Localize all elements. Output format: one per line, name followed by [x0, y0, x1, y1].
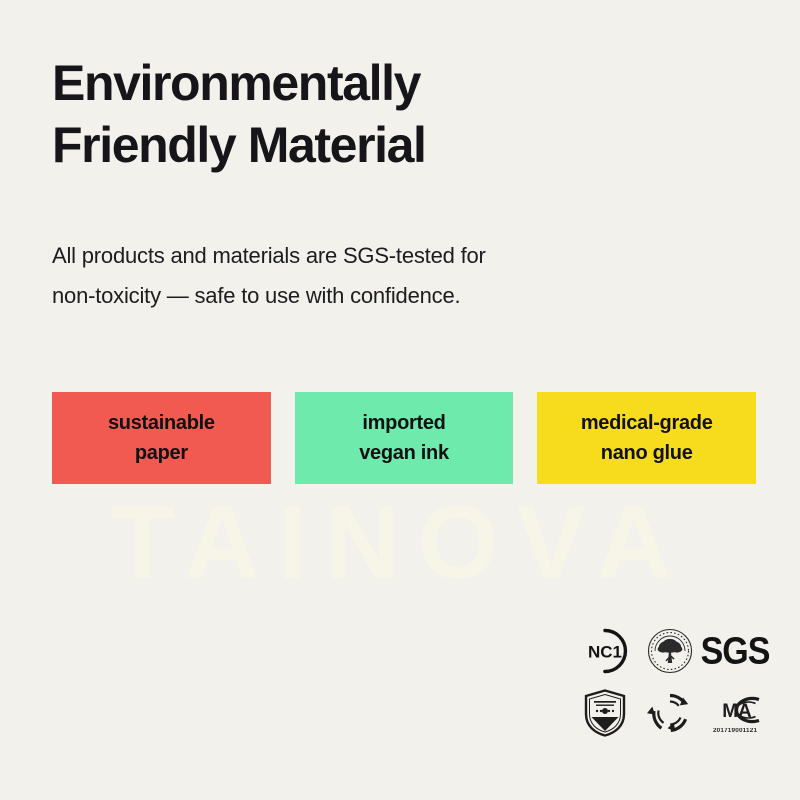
nc1-badge-icon: NC1	[575, 622, 634, 680]
page-title: Environmentally Friendly Material	[52, 52, 752, 176]
chip-medical-grade-nano-glue: medical-grade nano glue	[537, 392, 756, 484]
chip-label-line-1: sustainable	[108, 408, 215, 438]
sgs-logo-text: SGS	[701, 629, 770, 673]
page-title-line-1: Environmentally	[52, 52, 752, 114]
material-chip-group: sustainable paper imported vegan ink med…	[52, 392, 756, 484]
svg-text:MA: MA	[722, 701, 752, 722]
chip-label-line-1: medical-grade	[581, 408, 713, 438]
page-subtitle: All products and materials are SGS-teste…	[52, 236, 692, 316]
poster-canvas: TAINOVA Environmentally Friendly Materia…	[0, 0, 800, 800]
tree-seal-icon	[640, 622, 699, 680]
chip-label-line-2: nano glue	[601, 438, 693, 468]
certification-row-2: MA 201719001121	[575, 680, 771, 742]
chip-label-line-2: vegan ink	[359, 438, 449, 468]
chip-label-line-1: imported	[362, 408, 445, 438]
svg-text:NC1: NC1	[587, 643, 621, 662]
certification-badge-group: NC1	[575, 618, 771, 742]
chip-label-line-2: paper	[135, 438, 188, 468]
page-title-line-2: Friendly Material	[52, 114, 752, 176]
sgs-logo: SGS	[705, 622, 765, 680]
page-subtitle-line-1: All products and materials are SGS-teste…	[52, 236, 692, 276]
page-subtitle-line-2: non-toxicity — safe to use with confiden…	[52, 276, 692, 316]
chip-sustainable-paper: sustainable paper	[52, 392, 271, 484]
brand-watermark: TAINOVA	[0, 488, 800, 598]
recycling-loop-icon	[640, 684, 699, 742]
certification-row-1: NC1	[575, 618, 771, 680]
cma-certificate-number: 201719001121	[713, 728, 757, 734]
shield-badge-icon	[575, 684, 634, 742]
cma-badge-icon: MA 201719001121	[705, 684, 765, 742]
chip-imported-vegan-ink: imported vegan ink	[295, 392, 514, 484]
